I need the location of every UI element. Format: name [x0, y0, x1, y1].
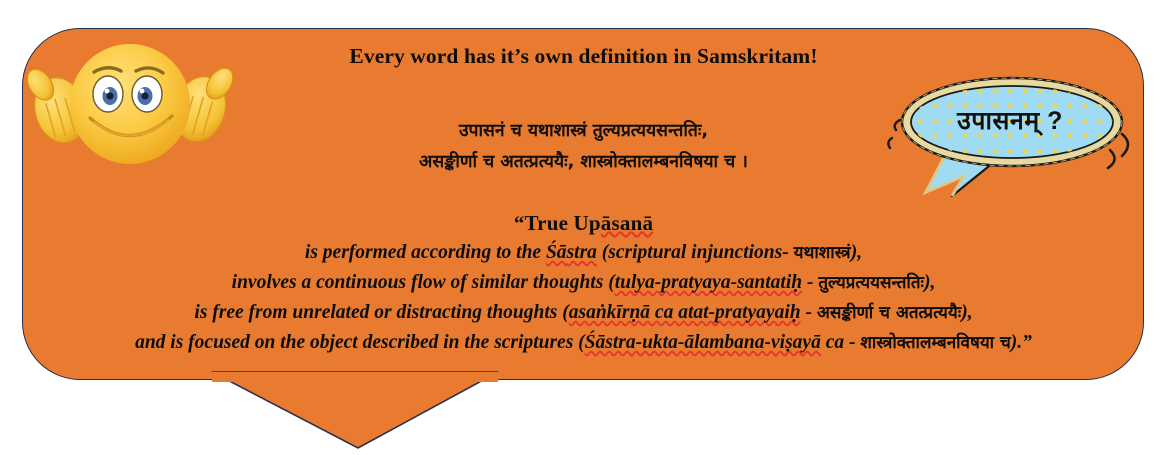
translation-line-3: involves a continuous flow of similar th…	[0, 268, 1167, 298]
callout-tail-join	[212, 372, 498, 382]
devanagari-asankirna: असङ्कीर्णा च अतत्प्रत्ययैः	[817, 303, 961, 323]
spellcheck-sastra: Śā	[546, 242, 567, 263]
translation-line-1: “True Upāsanā	[0, 208, 1167, 238]
translation-line-2: is performed according to the Śāstra (sc…	[0, 238, 1167, 268]
translation-line-4: is free from unrelated or distracting th…	[0, 298, 1167, 328]
sanskrit-verse: उपासनं च यथाशास्त्रं तुल्यप्रत्ययसन्ततिः…	[0, 116, 1167, 178]
screenshot-canvas: उपासनम् ? Every word has it’s own defini…	[0, 0, 1167, 453]
spellcheck-upasana: āsanā	[601, 211, 653, 235]
sanskrit-line-2: असङ्कीर्णा च अतत्प्रत्ययैः, शास्त्रोक्ता…	[0, 147, 1167, 178]
translation-block: “True Upāsanā is performed according to …	[0, 208, 1167, 358]
sanskrit-line-1: उपासनं च यथाशास्त्रं तुल्यप्रत्ययसन्ततिः…	[0, 116, 1167, 147]
spellcheck-asankirna: asaṅkīrṇā ca atat-pratyayaiḥ	[569, 302, 801, 323]
spellcheck-sastra-ukta: Śāstra-ukta-ālambana-viṣayā	[585, 332, 821, 353]
translation-line-5: and is focused on the object described i…	[0, 328, 1167, 358]
spellcheck-tulya: tulya-pratyaya-santatiḥ	[615, 272, 802, 293]
callout-tail	[180, 370, 520, 455]
devanagari-shastrokta: शास्त्रोक्तालम्बनविषया च	[860, 333, 1010, 353]
devanagari-yathashastram: यथाशास्त्रं	[794, 243, 851, 263]
headline: Every word has it’s own definition in Sa…	[0, 44, 1167, 69]
devanagari-tulyapratyaya: तुल्यप्रत्ययसन्ततिः	[818, 273, 924, 293]
